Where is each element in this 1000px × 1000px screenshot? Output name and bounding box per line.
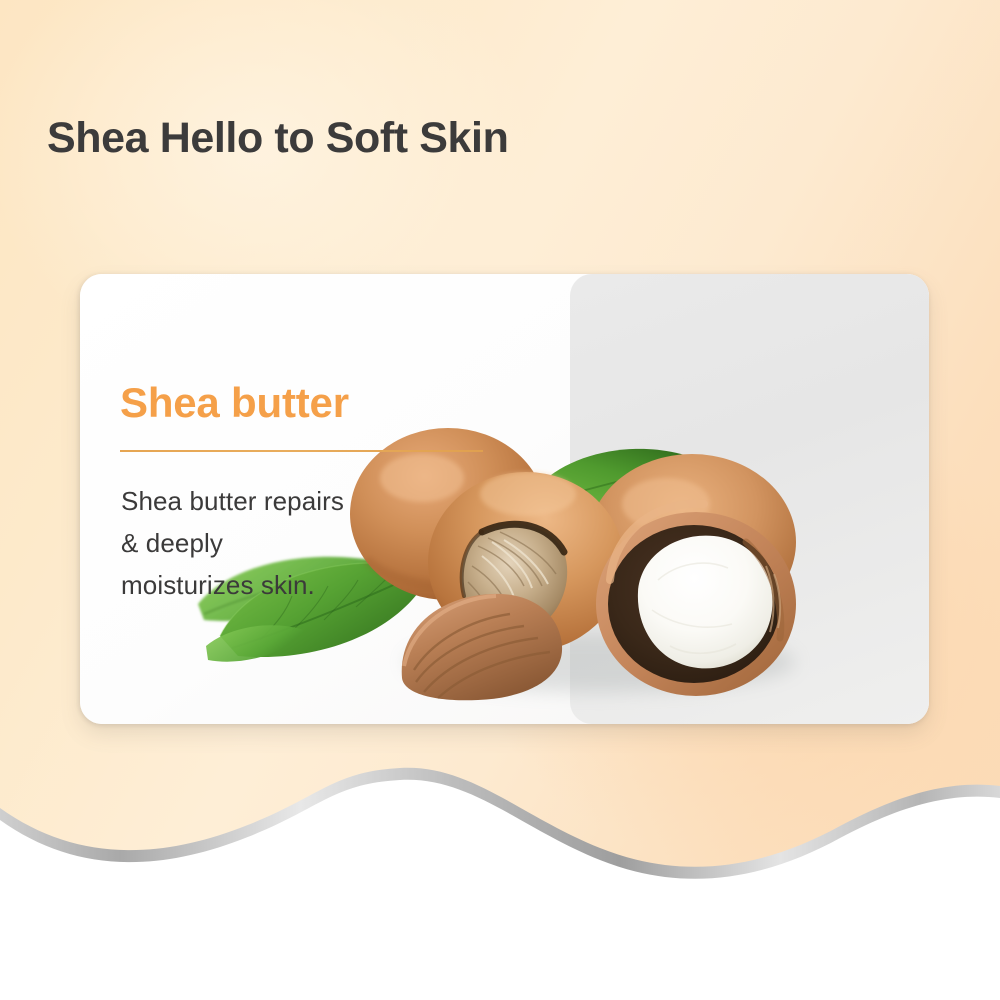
description-line: moisturizes skin. xyxy=(121,564,451,606)
ingredient-card: Shea butter Shea butter repairs & deeply… xyxy=(80,274,929,724)
page-title: Shea Hello to Soft Skin xyxy=(47,114,508,163)
card-text-panel: Shea butter Shea butter repairs & deeply… xyxy=(80,274,572,724)
ingredient-title: Shea butter xyxy=(120,379,349,427)
description-line: & deeply xyxy=(121,522,451,564)
ingredient-description: Shea butter repairs & deeply moisturizes… xyxy=(121,480,451,606)
slide-canvas: Shea Hello to Soft Skin xyxy=(0,0,1000,1000)
title-divider xyxy=(120,450,483,452)
description-line: Shea butter repairs xyxy=(121,480,451,522)
wave-divider xyxy=(0,750,1000,1000)
card-image-panel xyxy=(570,274,929,724)
